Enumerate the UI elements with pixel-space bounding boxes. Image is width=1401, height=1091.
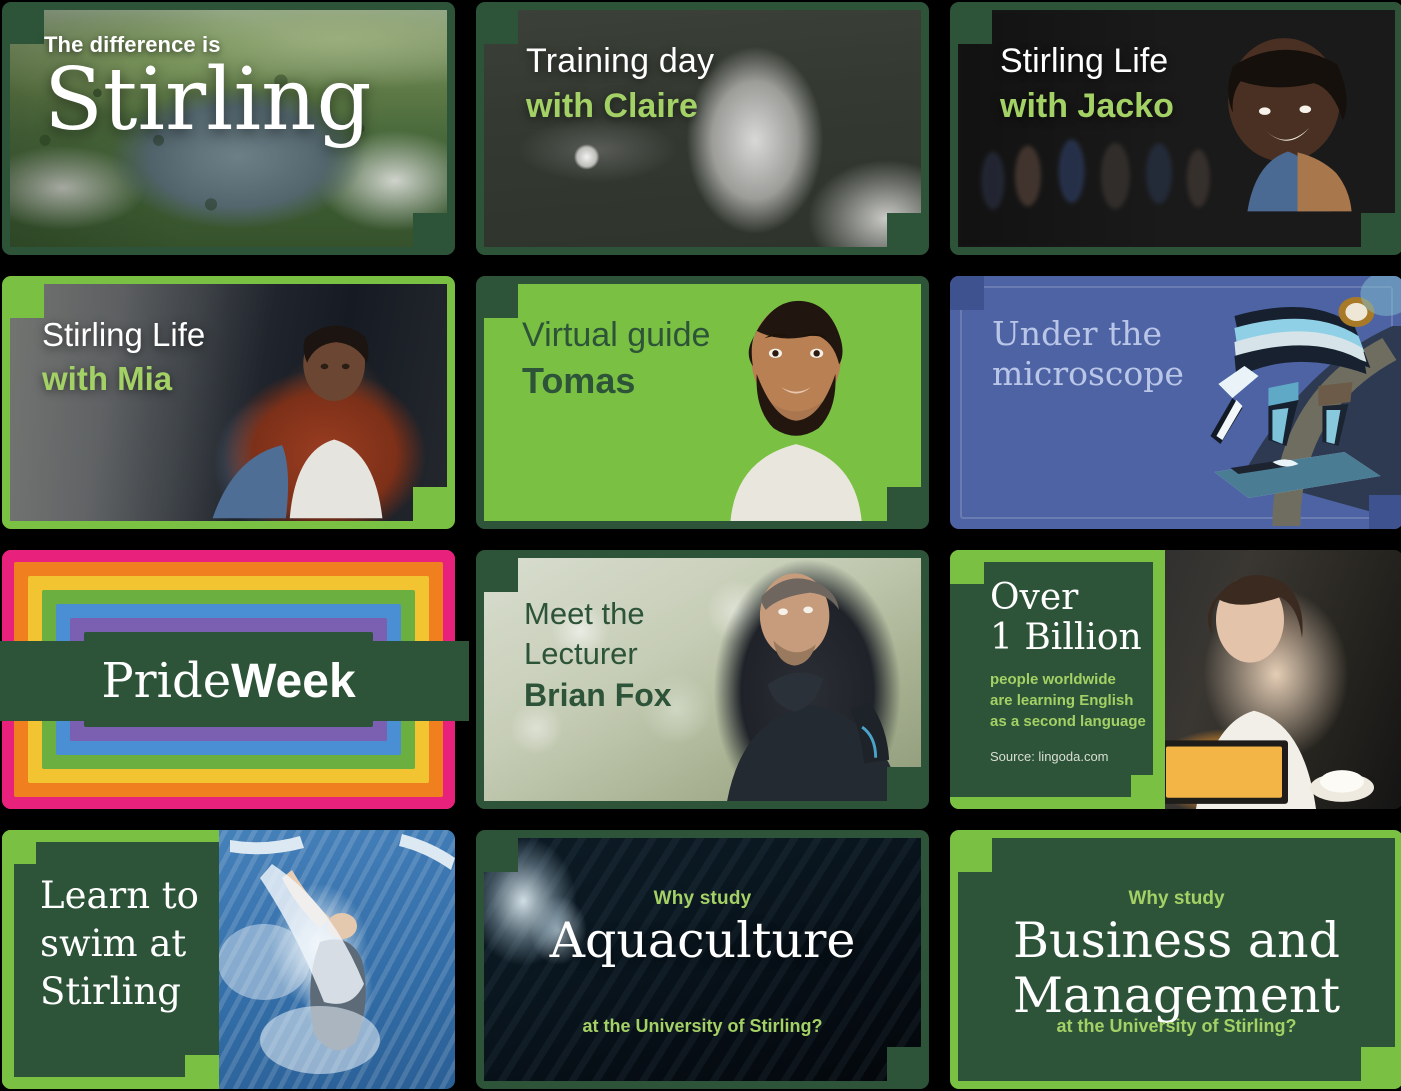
pride-week-banner: Pride Week [0, 641, 469, 721]
title-line-1: Learn to [40, 872, 199, 920]
card-media-office: Over 1 Billion people worldwide are lear… [950, 550, 1401, 809]
corner-notch-bottom-right [887, 767, 921, 801]
title-line-2: with Jacko [1000, 87, 1174, 126]
card-media-aerial-campus: The difference is Stirling [10, 10, 447, 247]
headline-line-1: Business and [958, 914, 1395, 969]
corner-notch-top-left [484, 284, 518, 318]
card-text-block: Over 1 Billion people worldwide are lear… [990, 578, 1189, 764]
title-line-3: Brian Fox [524, 677, 672, 714]
corner-notch-top-left [950, 276, 984, 310]
corner-notch-bottom-right [1369, 495, 1401, 529]
corner-notch-top-left [484, 838, 518, 872]
card-virtual-guide-tomas[interactable]: Virtual guide Tomas [476, 276, 929, 529]
title-line-2: swim at [40, 920, 199, 968]
headline: Aquaculture [484, 914, 921, 968]
kicker: Why study [958, 888, 1395, 910]
corner-notch-bottom-right [887, 213, 921, 247]
thumbnail-grid: The difference is Stirling Training day … [0, 0, 1401, 1091]
card-media-street-portrait: Stirling Life with Jacko [958, 10, 1395, 247]
card-footer-block: at the University of Stirling? [484, 1016, 921, 1037]
card-why-study-aquaculture[interactable]: Why study Aquaculture at the University … [476, 830, 929, 1089]
card-training-day-with-claire[interactable]: Training day with Claire [476, 2, 929, 255]
card-media-room: Stirling Life with Mia [10, 284, 447, 521]
corner-notch-top-left [484, 558, 518, 592]
card-footer-block: at the University of Stirling? [958, 1016, 1395, 1037]
corner-notch-bottom-right [1361, 213, 1395, 247]
card-media-tennis: Training day with Claire [484, 10, 921, 247]
card-text-block: The difference is Stirling [44, 32, 372, 142]
card-stirling-life-with-mia[interactable]: Stirling Life with Mia [2, 276, 455, 529]
corner-notch-top-left [484, 10, 518, 44]
card-over-1-billion[interactable]: Over 1 Billion people worldwide are lear… [950, 550, 1401, 809]
stat-line-2: 1 Billion [990, 618, 1189, 658]
panel-left-accent-bar [2, 830, 14, 1089]
kicker: Why study [484, 888, 921, 910]
title-line-2: with Claire [526, 87, 714, 126]
footer: at the University of Stirling? [958, 1016, 1395, 1037]
title-line-2: Tomas [522, 360, 710, 402]
card-media-lecturer: Meet the Lecturer Brian Fox [484, 558, 921, 801]
tomas-illustrated-portrait [689, 284, 903, 521]
corner-notch-top-left [10, 284, 44, 318]
week-word: Week [231, 654, 356, 709]
card-text-block: Training day with Claire [526, 42, 714, 126]
stat-line-1: Over [990, 578, 1189, 618]
corner-notch-bottom-right [887, 487, 921, 521]
title-line-1: Stirling Life [42, 316, 205, 354]
card-media-microscope: Under the microscope [950, 276, 1401, 529]
title-line-2: Lecturer [524, 634, 672, 674]
corner-notch-bottom-right [413, 487, 447, 521]
corner-notch-bottom-right [413, 213, 447, 247]
headline-line: Stirling [44, 60, 372, 142]
card-media-tomas: Virtual guide Tomas [484, 284, 921, 521]
card-under-the-microscope[interactable]: Under the microscope [950, 276, 1401, 529]
card-learn-to-swim-at-stirling[interactable]: Learn to swim at Stirling [2, 830, 455, 1089]
pride-word: Pride [101, 653, 231, 709]
card-media-water: Why study Aquaculture at the University … [484, 838, 921, 1081]
corner-notch-bottom-right [1131, 775, 1165, 809]
card-stirling-life-with-jacko[interactable]: Stirling Life with Jacko [950, 2, 1401, 255]
card-text-block: Meet the Lecturer Brian Fox [524, 594, 672, 714]
corner-notch-bottom-right [185, 1055, 219, 1089]
title-line-1: Meet the [524, 594, 672, 634]
card-text-block: Virtual guide Tomas [522, 316, 710, 402]
title-line-1: Virtual guide [522, 316, 710, 355]
card-text-block: Stirling Life with Jacko [1000, 42, 1174, 126]
corner-notch-bottom-right [887, 1047, 921, 1081]
corner-notch-bottom-right [1361, 1047, 1395, 1081]
card-pride-week[interactable]: Pride Week [2, 550, 455, 809]
title-line-1: Stirling Life [1000, 42, 1174, 81]
stat-source: Source: lingoda.com [990, 749, 1189, 764]
title-line-3: Stirling [40, 968, 199, 1016]
card-meet-the-lecturer-brian-fox[interactable]: Meet the Lecturer Brian Fox [476, 550, 929, 809]
title-line-2: microscope [992, 354, 1184, 394]
title-line-1: Training day [526, 42, 714, 81]
corner-notch-top-left [958, 838, 992, 872]
card-text-block: Learn to swim at Stirling [40, 872, 199, 1016]
corner-notch-top-left [10, 10, 44, 44]
stat-body-line-3: as a second language [990, 711, 1189, 732]
card-text-block: Why study Aquaculture [484, 888, 921, 968]
card-why-study-business-and-management[interactable]: Why study Business and Management at the… [950, 830, 1401, 1089]
card-media-pool: Learn to swim at Stirling [2, 830, 455, 1089]
card-text-block: Stirling Life with Mia [42, 316, 205, 398]
stat-body-line-2: are learning English [990, 690, 1189, 711]
corner-notch-top-left [2, 830, 36, 864]
title-line-2: with Mia [42, 360, 205, 398]
footer: at the University of Stirling? [484, 1016, 921, 1037]
card-media-flat-green: Why study Business and Management at the… [958, 838, 1395, 1081]
corner-notch-top-left [958, 10, 992, 44]
card-the-difference-is-stirling[interactable]: The difference is Stirling [2, 2, 455, 255]
card-text-block: Under the microscope [992, 314, 1184, 395]
corner-notch-top-left [950, 550, 984, 584]
stat-body-line-1: people worldwide [990, 669, 1189, 690]
card-text-block: Why study Business and Management [958, 888, 1395, 1024]
title-line-1: Under the [992, 314, 1184, 354]
